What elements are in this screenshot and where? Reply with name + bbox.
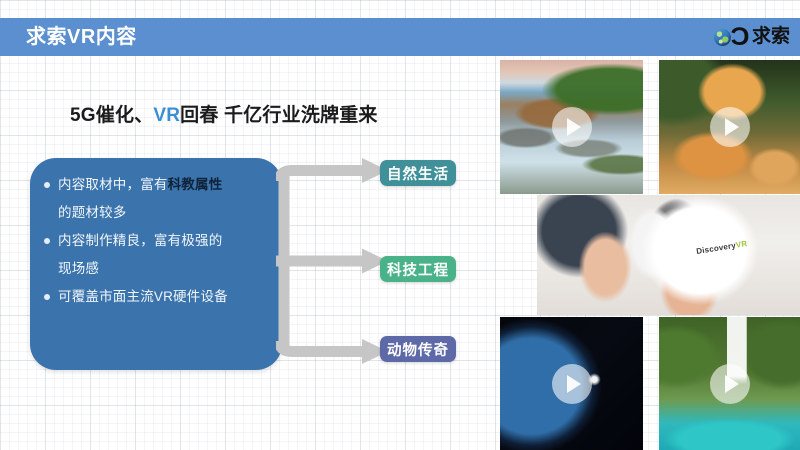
category-pill-nature[interactable]: 自然生活 [380, 160, 456, 186]
play-icon[interactable] [552, 364, 592, 404]
globe-icon [714, 29, 731, 46]
bullet-dot-icon [44, 294, 50, 300]
brand-mark-icon: Ɔ [730, 25, 749, 50]
bullet-panel: 内容取材中，富有科教属性 的题材较多 内容制作精良，富有极强的 现场感 可覆盖市… [30, 158, 282, 370]
photo-coastal-landscape[interactable] [500, 60, 643, 194]
brand-name: 求索 [752, 26, 790, 48]
bullet-dot-icon [44, 182, 50, 188]
connector-arrows [276, 150, 388, 372]
category-label: 动物传奇 [387, 339, 449, 360]
photo-vr-headset-user[interactable]: DiscoveryVR [537, 195, 800, 315]
photo-earth-from-space[interactable] [500, 317, 643, 450]
headline-accent: VR [153, 105, 180, 126]
bullet-list: 内容取材中，富有科教属性 的题材较多 内容制作精良，富有极强的 现场感 可覆盖市… [44, 172, 274, 312]
photo-waterfall[interactable] [659, 317, 800, 450]
headline: 5G催化、VR回春 千亿行业洗牌重来 [70, 100, 378, 127]
page-title: 求索VR内容 [26, 22, 137, 52]
play-icon[interactable] [710, 364, 750, 404]
vr-logo-mark: VR [735, 239, 748, 250]
bullet-text: 可覆盖市面主流VR硬件设备 [58, 284, 228, 310]
brand-logo: Ɔ 求索 [714, 22, 790, 52]
headline-part1: 5G催化、 [70, 105, 153, 126]
list-item-continuation: 现场感 [44, 256, 274, 282]
list-item: 内容取材中，富有科教属性 [44, 172, 274, 198]
bullet-text: 现场感 [58, 256, 99, 282]
category-pill-animal[interactable]: 动物传奇 [380, 336, 456, 362]
bullet-text-pre: 内容取材中，富有 [58, 177, 168, 192]
bullet-text-emphasis: 科教属性 [168, 177, 223, 192]
play-icon[interactable] [552, 107, 592, 147]
photo-image [537, 195, 800, 315]
list-item: 内容制作精良，富有极强的 [44, 228, 274, 254]
connector-bottom-branch [280, 341, 365, 352]
slide: 求索VR内容 Ɔ 求索 5G催化、VR回春 千亿行业洗牌重来 内容取材中，富有科… [0, 0, 800, 450]
list-item: 可覆盖市面主流VR硬件设备 [44, 284, 274, 310]
play-icon[interactable] [710, 107, 750, 147]
category-label: 科技工程 [387, 259, 449, 280]
category-label: 自然生活 [387, 163, 449, 184]
bullet-dot-icon [44, 238, 50, 244]
photo-tigers[interactable] [659, 60, 800, 194]
bullet-text: 内容制作精良，富有极强的 [58, 228, 222, 254]
category-pill-tech[interactable]: 科技工程 [380, 256, 456, 282]
bullet-text: 内容取材中，富有科教属性 [58, 172, 222, 198]
connector-top-branch [280, 171, 365, 182]
list-item-continuation: 的题材较多 [44, 200, 274, 226]
bullet-text: 的题材较多 [58, 200, 127, 226]
headline-part2: 回春 千亿行业洗牌重来 [180, 105, 377, 126]
